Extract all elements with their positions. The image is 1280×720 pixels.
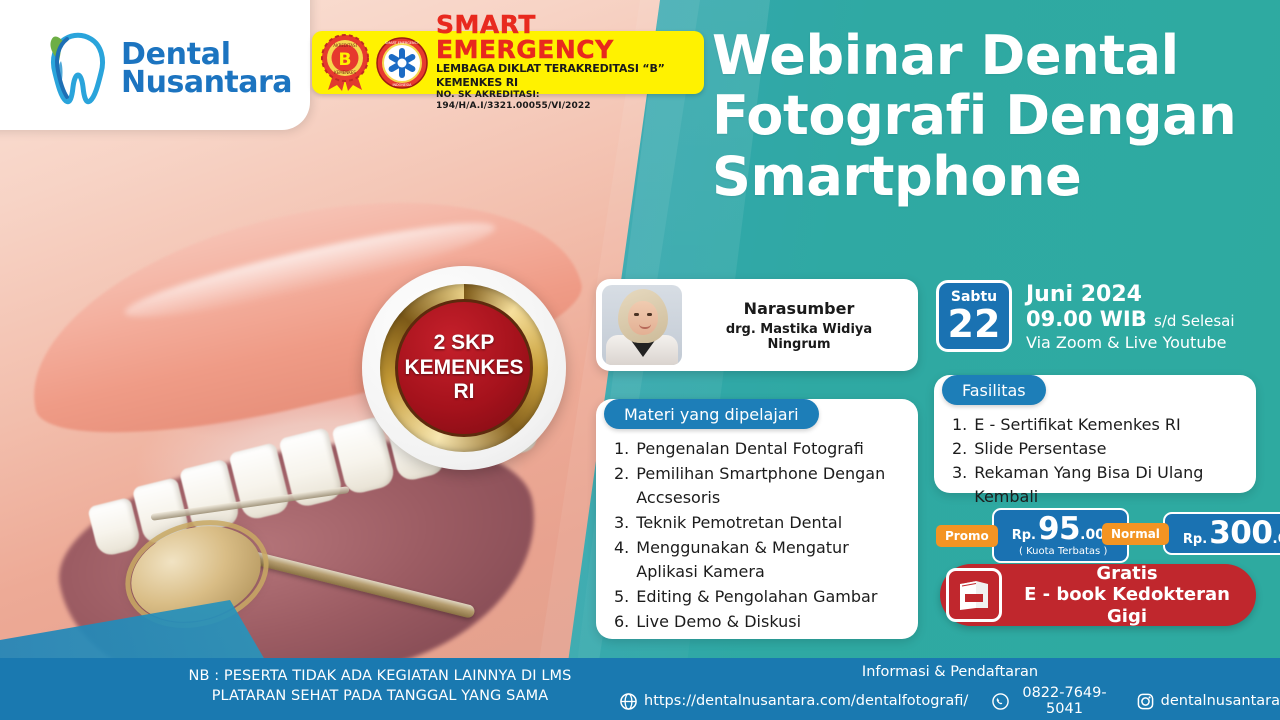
schedule-time: 09.00 WIB	[1026, 307, 1147, 331]
schedule-block: Sabtu 22 Juni 2024 09.00 WIB s/d Selesai…	[936, 280, 1235, 354]
brand-logo: Dental Nusantara	[45, 28, 300, 110]
bonus-banner: Gratis E - book Kedokteran Gigi	[940, 564, 1256, 626]
materi-tab-label: Materi yang dipelajari	[604, 399, 819, 429]
book-icon	[956, 579, 992, 611]
footer-note-line-1: NB : PESERTA TIDAK ADA KEGIATAN LAINNYA …	[150, 667, 610, 687]
normal-label: Normal	[1102, 523, 1169, 545]
skp-gold-ring: 2 SKP KEMENKES RI	[380, 284, 548, 452]
smart-emergency-seal-icon: SMART EMERGENCY INDONESIA	[376, 37, 428, 89]
materi-card: Materi yang dipelajari 1.Pengenalan Dent…	[596, 399, 918, 639]
date-badge: Sabtu 22	[936, 280, 1012, 352]
speaker-avatar	[602, 285, 682, 365]
schedule-month-year: Juni 2024	[1026, 282, 1235, 307]
title-line-1: Webinar Dental	[712, 26, 1252, 86]
svg-text:AKREDITASI: AKREDITASI	[333, 43, 357, 48]
list-item-text: E - Sertifikat Kemenkes RI	[974, 413, 1180, 437]
list-item: 2.Slide Persentase	[952, 437, 1246, 461]
footer-contact: Informasi & Pendaftaran https://dentalnu…	[620, 664, 1280, 717]
svg-text:B: B	[339, 50, 352, 70]
instagram-icon	[1137, 693, 1154, 710]
badge-subtitle: LEMBAGA DIKLAT TERAKREDITASI “B” KEMENKE…	[436, 62, 696, 90]
list-item-number: 2.	[952, 437, 967, 461]
list-item: 5.Editing & Pengolahan Gambar	[614, 585, 906, 609]
svg-text:SMART EMERGENCY: SMART EMERGENCY	[385, 41, 420, 45]
normal-price: Normal Rp. 300 .000	[1102, 512, 1280, 555]
list-item: 3.Rekaman Yang Bisa Di Ulang Kembali	[952, 461, 1246, 509]
list-item-text: Pengenalan Dental Fotografi	[636, 437, 864, 461]
list-item-number: 4.	[614, 536, 629, 560]
logo-line2: Nusantara	[121, 69, 292, 97]
instagram-handle[interactable]: dentalnusantara	[1161, 693, 1280, 709]
list-item-number: 5.	[614, 585, 629, 609]
bonus-line-1: Gratis	[1014, 563, 1240, 585]
book-badge	[946, 568, 1002, 622]
promo-currency: Rp.	[1012, 529, 1036, 542]
normal-currency: Rp.	[1183, 533, 1207, 546]
footer-note: NB : PESERTA TIDAK ADA KEGIATAN LAINNYA …	[150, 667, 610, 706]
list-item-text: Live Demo & Diskusi	[636, 610, 801, 634]
fasilitas-list: 1.E - Sertifikat Kemenkes RI2.Slide Pers…	[952, 413, 1246, 509]
whatsapp-icon	[992, 693, 1009, 710]
normal-price-box: Rp. 300 .000	[1163, 512, 1280, 555]
list-item-number: 1.	[614, 437, 629, 461]
schedule-time-suffix: s/d Selesai	[1154, 312, 1234, 330]
website-url[interactable]: https://dentalnusantara.com/dentalfotogr…	[644, 693, 968, 709]
tooth-icon	[45, 31, 111, 107]
footer-note-line-2: PLATARAN SEHAT PADA TANGGAL YANG SAMA	[150, 687, 610, 707]
skp-credit-seal: 2 SKP KEMENKES RI	[362, 266, 566, 470]
fasilitas-tab-label: Fasilitas	[942, 375, 1046, 405]
normal-amount: 300	[1209, 518, 1272, 549]
skp-line-3: RI	[454, 380, 475, 404]
bonus-line-2: E - book Kedokteran Gigi	[1014, 584, 1240, 627]
promo-label: Promo	[936, 525, 998, 547]
contact-title: Informasi & Pendaftaran	[620, 664, 1280, 680]
badge-sk-number: NO. SK AKREDITASI: 194/H/A.I/3321.00055/…	[436, 90, 696, 113]
speaker-card: Narasumber drg. Mastika Widiya Ningrum	[596, 279, 918, 371]
whatsapp-number[interactable]: 0822-7649-5041	[1016, 685, 1113, 717]
promo-note: ( Kuota Terbatas )	[1012, 546, 1115, 557]
title-line-2: Fotografi Dengan	[712, 86, 1252, 146]
speaker-role: Narasumber	[696, 299, 902, 318]
accreditation-seal-icon: B AKREDITASI KEMENKES	[318, 34, 372, 92]
list-item-text: Editing & Pengolahan Gambar	[636, 585, 877, 609]
schedule-date: 22	[939, 305, 1009, 343]
list-item: 4.Menggunakan & Mengatur Aplikasi Kamera	[614, 536, 906, 584]
list-item-number: 3.	[952, 461, 967, 485]
list-item-number: 3.	[614, 511, 629, 535]
list-item: 6.Live Demo & Diskusi	[614, 610, 906, 634]
globe-icon	[620, 693, 637, 710]
promo-price: Promo Rp. 95 .000 ( Kuota Terbatas )	[936, 508, 1129, 563]
list-item: 1.Pengenalan Dental Fotografi	[614, 437, 906, 461]
list-item-text: Slide Persentase	[974, 437, 1106, 461]
pricing-row: Promo Rp. 95 .000 ( Kuota Terbatas ) Nor…	[936, 508, 1266, 558]
list-item: 1.E - Sertifikat Kemenkes RI	[952, 413, 1246, 437]
list-item: 2.Pemilihan Smartphone Dengan Accsesoris	[614, 462, 906, 510]
schedule-platform: Via Zoom & Live Youtube	[1026, 333, 1235, 354]
list-item-number: 2.	[614, 462, 629, 486]
skp-inner-disc: 2 SKP KEMENKES RI	[395, 299, 533, 437]
materi-list: 1.Pengenalan Dental Fotografi2.Pemilihan…	[614, 437, 906, 635]
footer-bar: NB : PESERTA TIDAK ADA KEGIATAN LAINNYA …	[0, 658, 1280, 720]
svg-text:INDONESIA: INDONESIA	[393, 83, 413, 87]
skp-line-1: 2 SKP	[434, 331, 495, 355]
webinar-poster: Dental Nusantara B AKREDITASI KEMENKES	[0, 0, 1280, 720]
speaker-name: drg. Mastika Widiya Ningrum	[696, 322, 902, 352]
normal-thousands: .000	[1272, 532, 1280, 546]
badge-title: SMART EMERGENCY	[436, 12, 696, 62]
fasilitas-card: Fasilitas 1.E - Sertifikat Kemenkes RI2.…	[934, 375, 1256, 493]
title-line-3: Smartphone	[712, 147, 1252, 207]
page-title: Webinar Dental Fotografi Dengan Smartpho…	[712, 26, 1252, 207]
list-item: 3.Teknik Pemotretan Dental	[614, 511, 906, 535]
list-item-number: 1.	[952, 413, 967, 437]
svg-text:KEMENKES: KEMENKES	[334, 70, 356, 75]
list-item-text: Teknik Pemotretan Dental	[636, 511, 842, 535]
promo-amount: 95	[1038, 514, 1080, 545]
accreditation-badge: B AKREDITASI KEMENKES SMART EMERGENCY IN…	[312, 31, 704, 94]
list-item-text: Rekaman Yang Bisa Di Ulang Kembali	[974, 461, 1246, 509]
list-item-text: Menggunakan & Mengatur Aplikasi Kamera	[636, 536, 906, 584]
list-item-number: 6.	[614, 610, 629, 634]
list-item-text: Pemilihan Smartphone Dengan Accsesoris	[636, 462, 906, 510]
skp-line-2: KEMENKES	[404, 356, 523, 380]
